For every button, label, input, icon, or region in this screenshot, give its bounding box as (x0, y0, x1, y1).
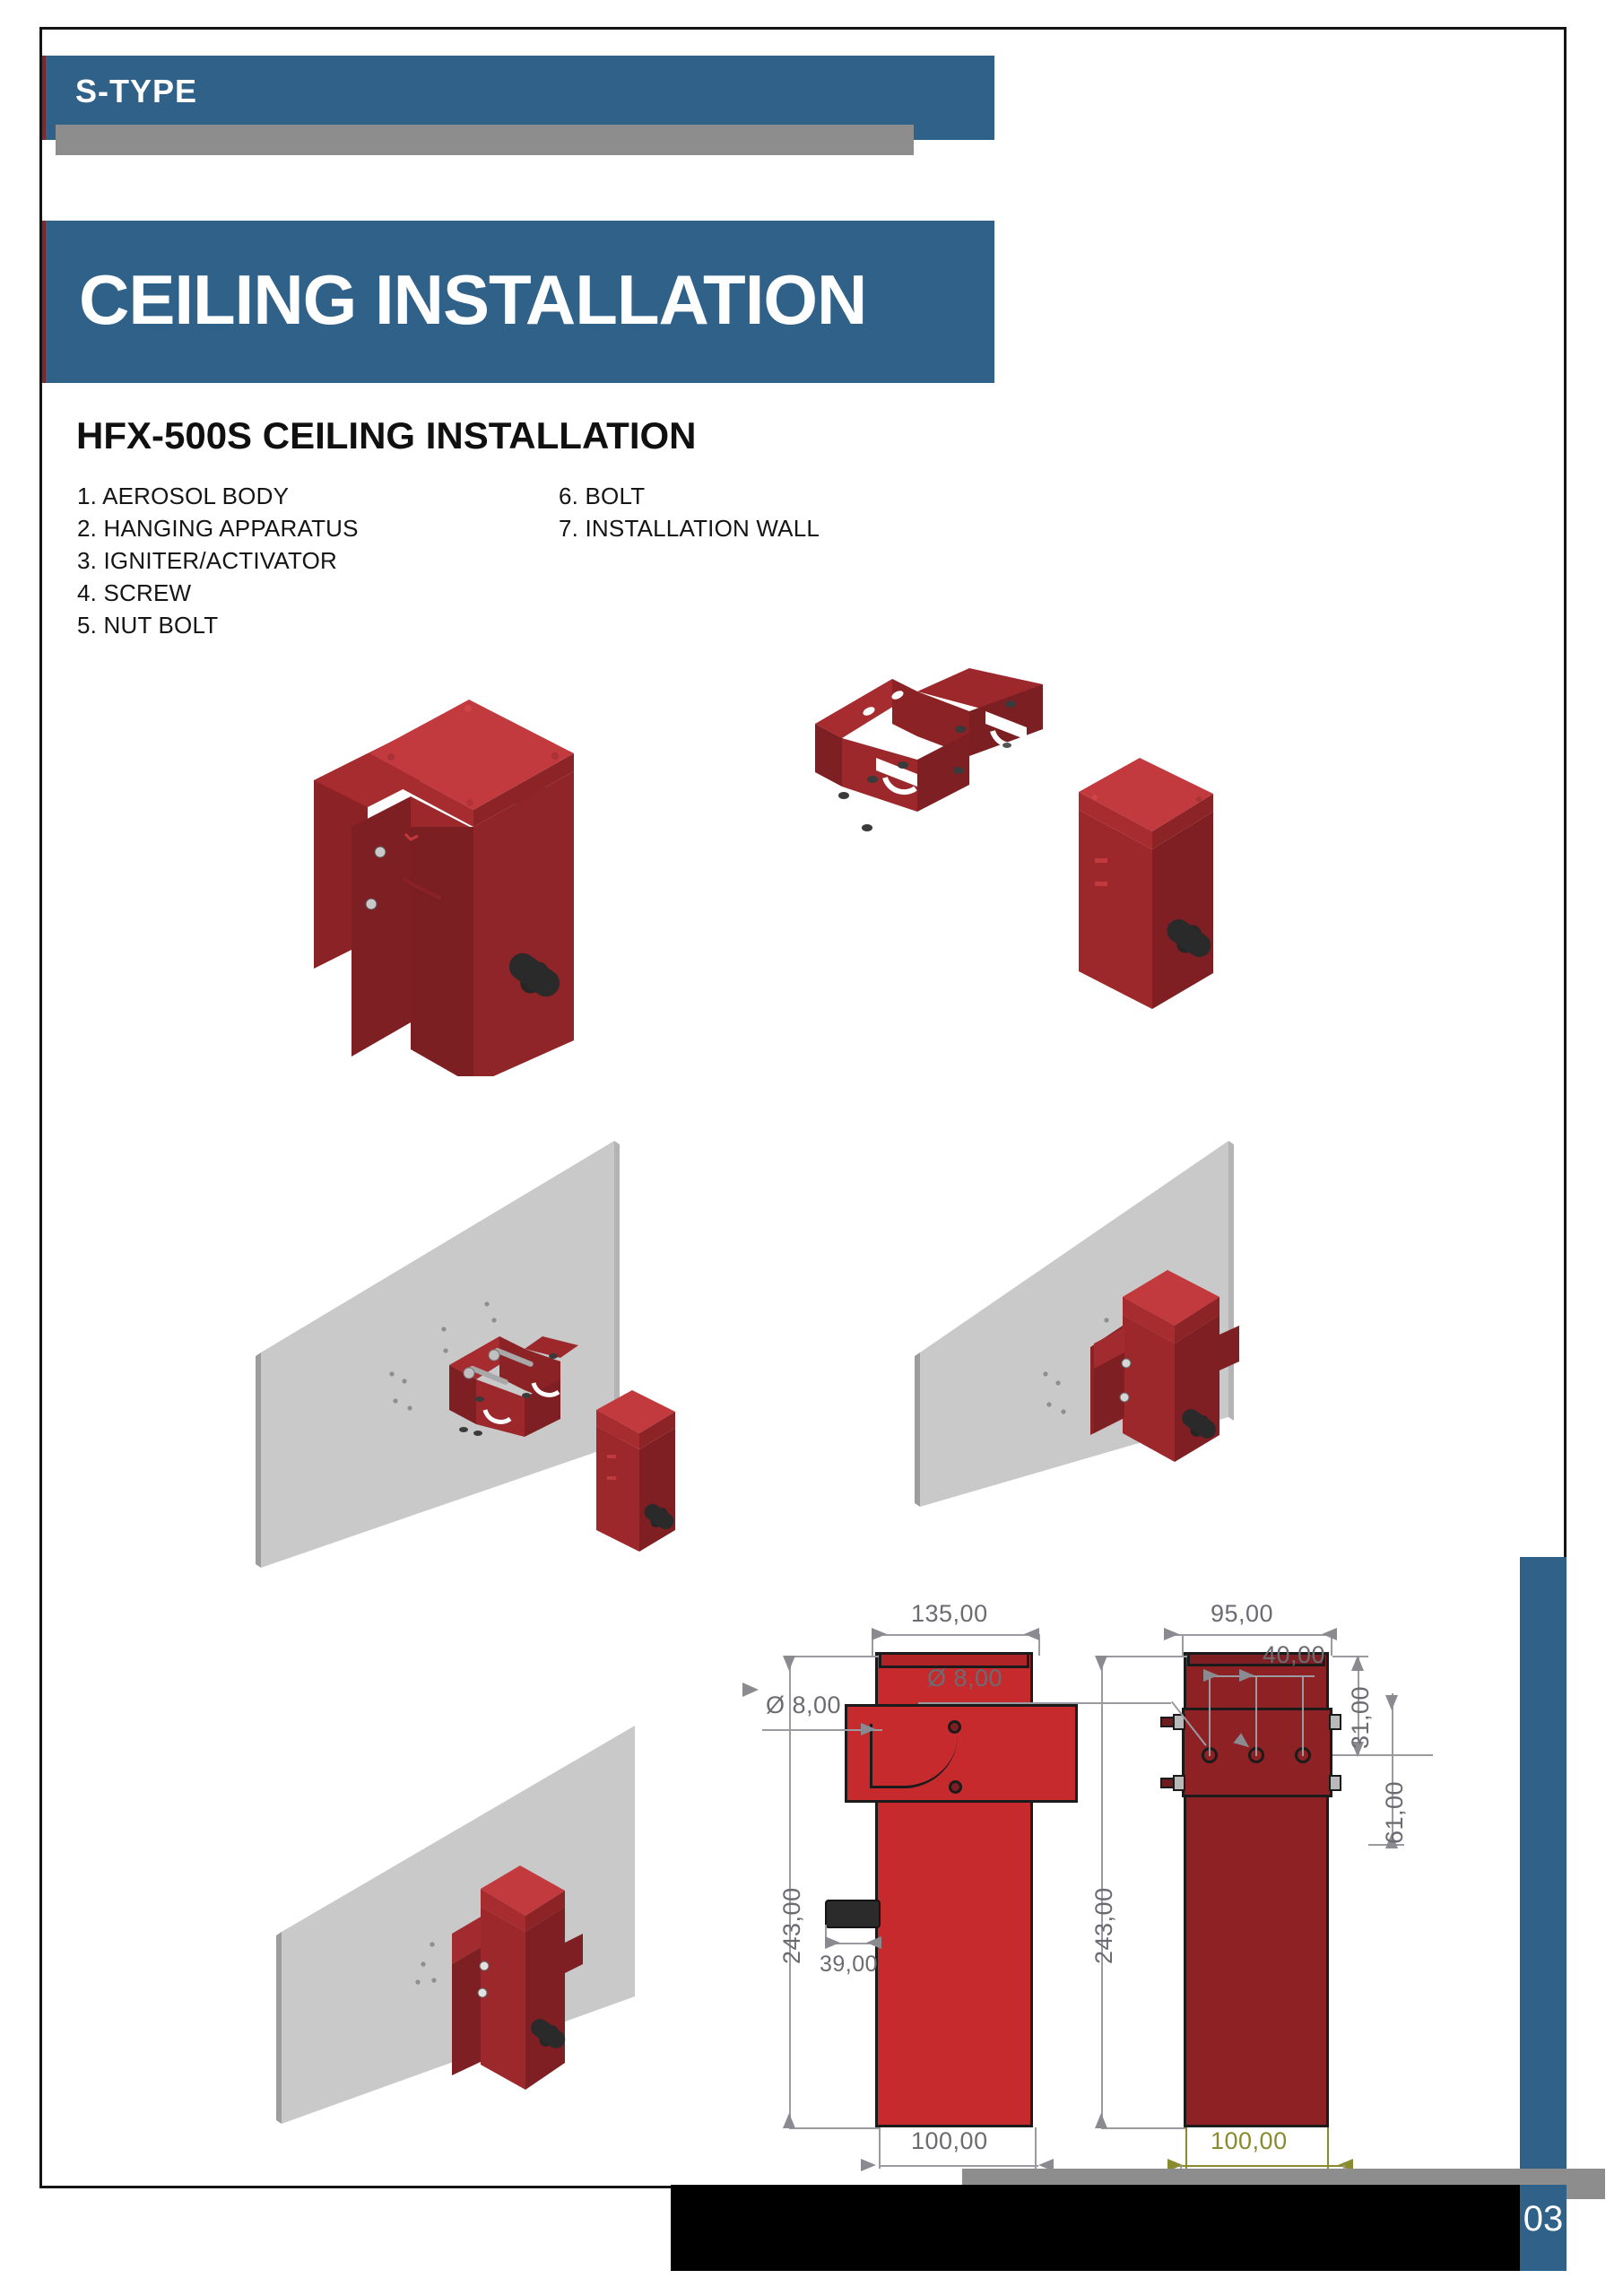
aerosol-body-bracket-svg (305, 664, 681, 1076)
dim-ext-40-left (1209, 1675, 1211, 1756)
dim-label-243-front: 243,00 (778, 1887, 806, 1964)
page-number: 03 (1520, 2199, 1567, 2239)
illustration-wall-with-bracket-and-body (256, 1121, 722, 1570)
parts-list-item: 6. BOLT (559, 480, 820, 512)
dim-arrow-95-right (1322, 1628, 1337, 1640)
wall-bracket-body-svg (256, 1121, 722, 1570)
dim-line-135 (872, 1634, 1040, 1636)
product-type-label: S-TYPE (75, 74, 197, 109)
dim-arrow-40-right (1239, 1669, 1254, 1682)
dim-leader-diameter-side (918, 1702, 1171, 1704)
dim-ext-243-side-bottom (1101, 2127, 1187, 2129)
parts-list-item: 5. NUT BOLT (77, 609, 359, 641)
illustration-hanging-apparatus-exploded (803, 659, 1072, 839)
dim-label-61: 61,00 (1381, 1781, 1409, 1844)
dim-label-diameter-side: Ø 8,00 (927, 1665, 1002, 1692)
dim-arrow-100-front-left (861, 2159, 876, 2171)
hanging-apparatus-svg (803, 659, 1072, 839)
dim-ext-243-front-top (789, 1656, 879, 1657)
dim-arrow-243-front-bottom (783, 2113, 795, 2128)
illustration-aerosol-body-isolated (1063, 749, 1269, 1045)
dim-arrow-39-right (866, 1936, 881, 1949)
section-subtitle: HFX-500S CEILING INSTALLATION (76, 414, 696, 457)
dim-label-95: 95,00 (1211, 1600, 1273, 1628)
footer-black-band (671, 2185, 1565, 2271)
dim-ext-100-side-left (1185, 2127, 1187, 2169)
front-view-nozzle (825, 1900, 881, 1928)
dim-arrow-31-top (1351, 1656, 1364, 1671)
dim-ext-100-front-right (1035, 2127, 1037, 2169)
parts-list-item: 3. IGNITER/ACTIVATOR (77, 544, 359, 577)
dim-arrow-243-side-bottom (1095, 2113, 1107, 2128)
dim-arrow-243-front-top (783, 1656, 795, 1671)
right-edge-blue-bar (1520, 1557, 1567, 2185)
dim-ext-243-side-top (1101, 1656, 1187, 1657)
dim-label-100-front: 100,00 (911, 2127, 988, 2155)
dim-label-diameter-front: Ø 8,00 (766, 1692, 841, 1719)
dim-arrow-40-left (1203, 1669, 1219, 1682)
parts-legend-right-column: 6. BOLT 7. INSTALLATION WALL (559, 480, 820, 544)
dim-label-40: 40,00 (1263, 1641, 1325, 1669)
dim-ext-61-mid (1368, 1754, 1404, 1756)
illustration-wall-with-installed-unit (258, 1695, 644, 2126)
side-view-bolt-head-bottom-left (1173, 1775, 1185, 1791)
dim-arrow-39-left (825, 1936, 840, 1949)
header-red-accent-line (42, 56, 46, 140)
dim-line-95 (1164, 1634, 1336, 1636)
illustration-aerosol-body-with-bracket (305, 664, 681, 1076)
dim-ext-100-side-right (1327, 2127, 1329, 2169)
parts-legend-left-column: 1. AEROSOL BODY 2. HANGING APPARATUS 3. … (77, 480, 359, 641)
dim-label-100-side: 100,00 (1211, 2127, 1288, 2155)
illustration-wall-with-assembled-unit (915, 1121, 1300, 1507)
dim-line-40 (1203, 1675, 1315, 1677)
dim-ext-95-left (1182, 1634, 1184, 1656)
dim-ext-40-far (1302, 1675, 1304, 1756)
dim-label-243-side: 243,00 (1090, 1887, 1118, 1964)
side-view-bolt-head-top-right (1329, 1714, 1341, 1730)
dim-ext-40-right (1255, 1675, 1257, 1756)
dim-line-100-front (879, 2165, 1038, 2167)
dim-arrow-135-right (1024, 1628, 1039, 1640)
wall-installed-unit-svg (258, 1695, 644, 2126)
parts-list-item: 4. SCREW (77, 577, 359, 609)
dim-label-39: 39,00 (820, 1952, 878, 1978)
parts-list-item: 2. HANGING APPARATUS (77, 512, 359, 544)
dim-arrow-243-side-top (1095, 1656, 1107, 1671)
dim-label-31: 31,00 (1347, 1686, 1375, 1749)
title-red-accent-line (42, 221, 46, 383)
dim-ext-100-front-left (879, 2127, 881, 2169)
parts-list-item: 7. INSTALLATION WALL (559, 512, 820, 544)
side-view-bolt-head-bottom-right (1329, 1775, 1341, 1791)
page-title: CEILING INSTALLATION (79, 258, 866, 341)
dim-arrow-61-top (1385, 1695, 1398, 1710)
dim-arrow-95-left (1164, 1628, 1179, 1640)
aerosol-body-svg (1063, 749, 1269, 1045)
document-page: S-TYPE CEILING INSTALLATION HFX-500S CEI… (0, 0, 1623, 2296)
dim-arrow-135-left (872, 1628, 887, 1640)
parts-list-item: 1. AEROSOL BODY (77, 480, 359, 512)
front-view-hole-bottom (949, 1780, 962, 1794)
dim-marker-triangle (742, 1683, 759, 1697)
dim-arrow-diameter-front (861, 1723, 876, 1735)
header-gray-band (56, 125, 914, 155)
technical-dimension-drawing: 135,00 Ø 8,00 243,00 39,00 100,00 (735, 1525, 1524, 2170)
dim-label-135: 135,00 (911, 1600, 988, 1628)
dim-ext-243-front-bottom (789, 2127, 879, 2129)
front-view-hole-top (948, 1720, 961, 1734)
wall-assembled-unit-svg (915, 1121, 1300, 1507)
